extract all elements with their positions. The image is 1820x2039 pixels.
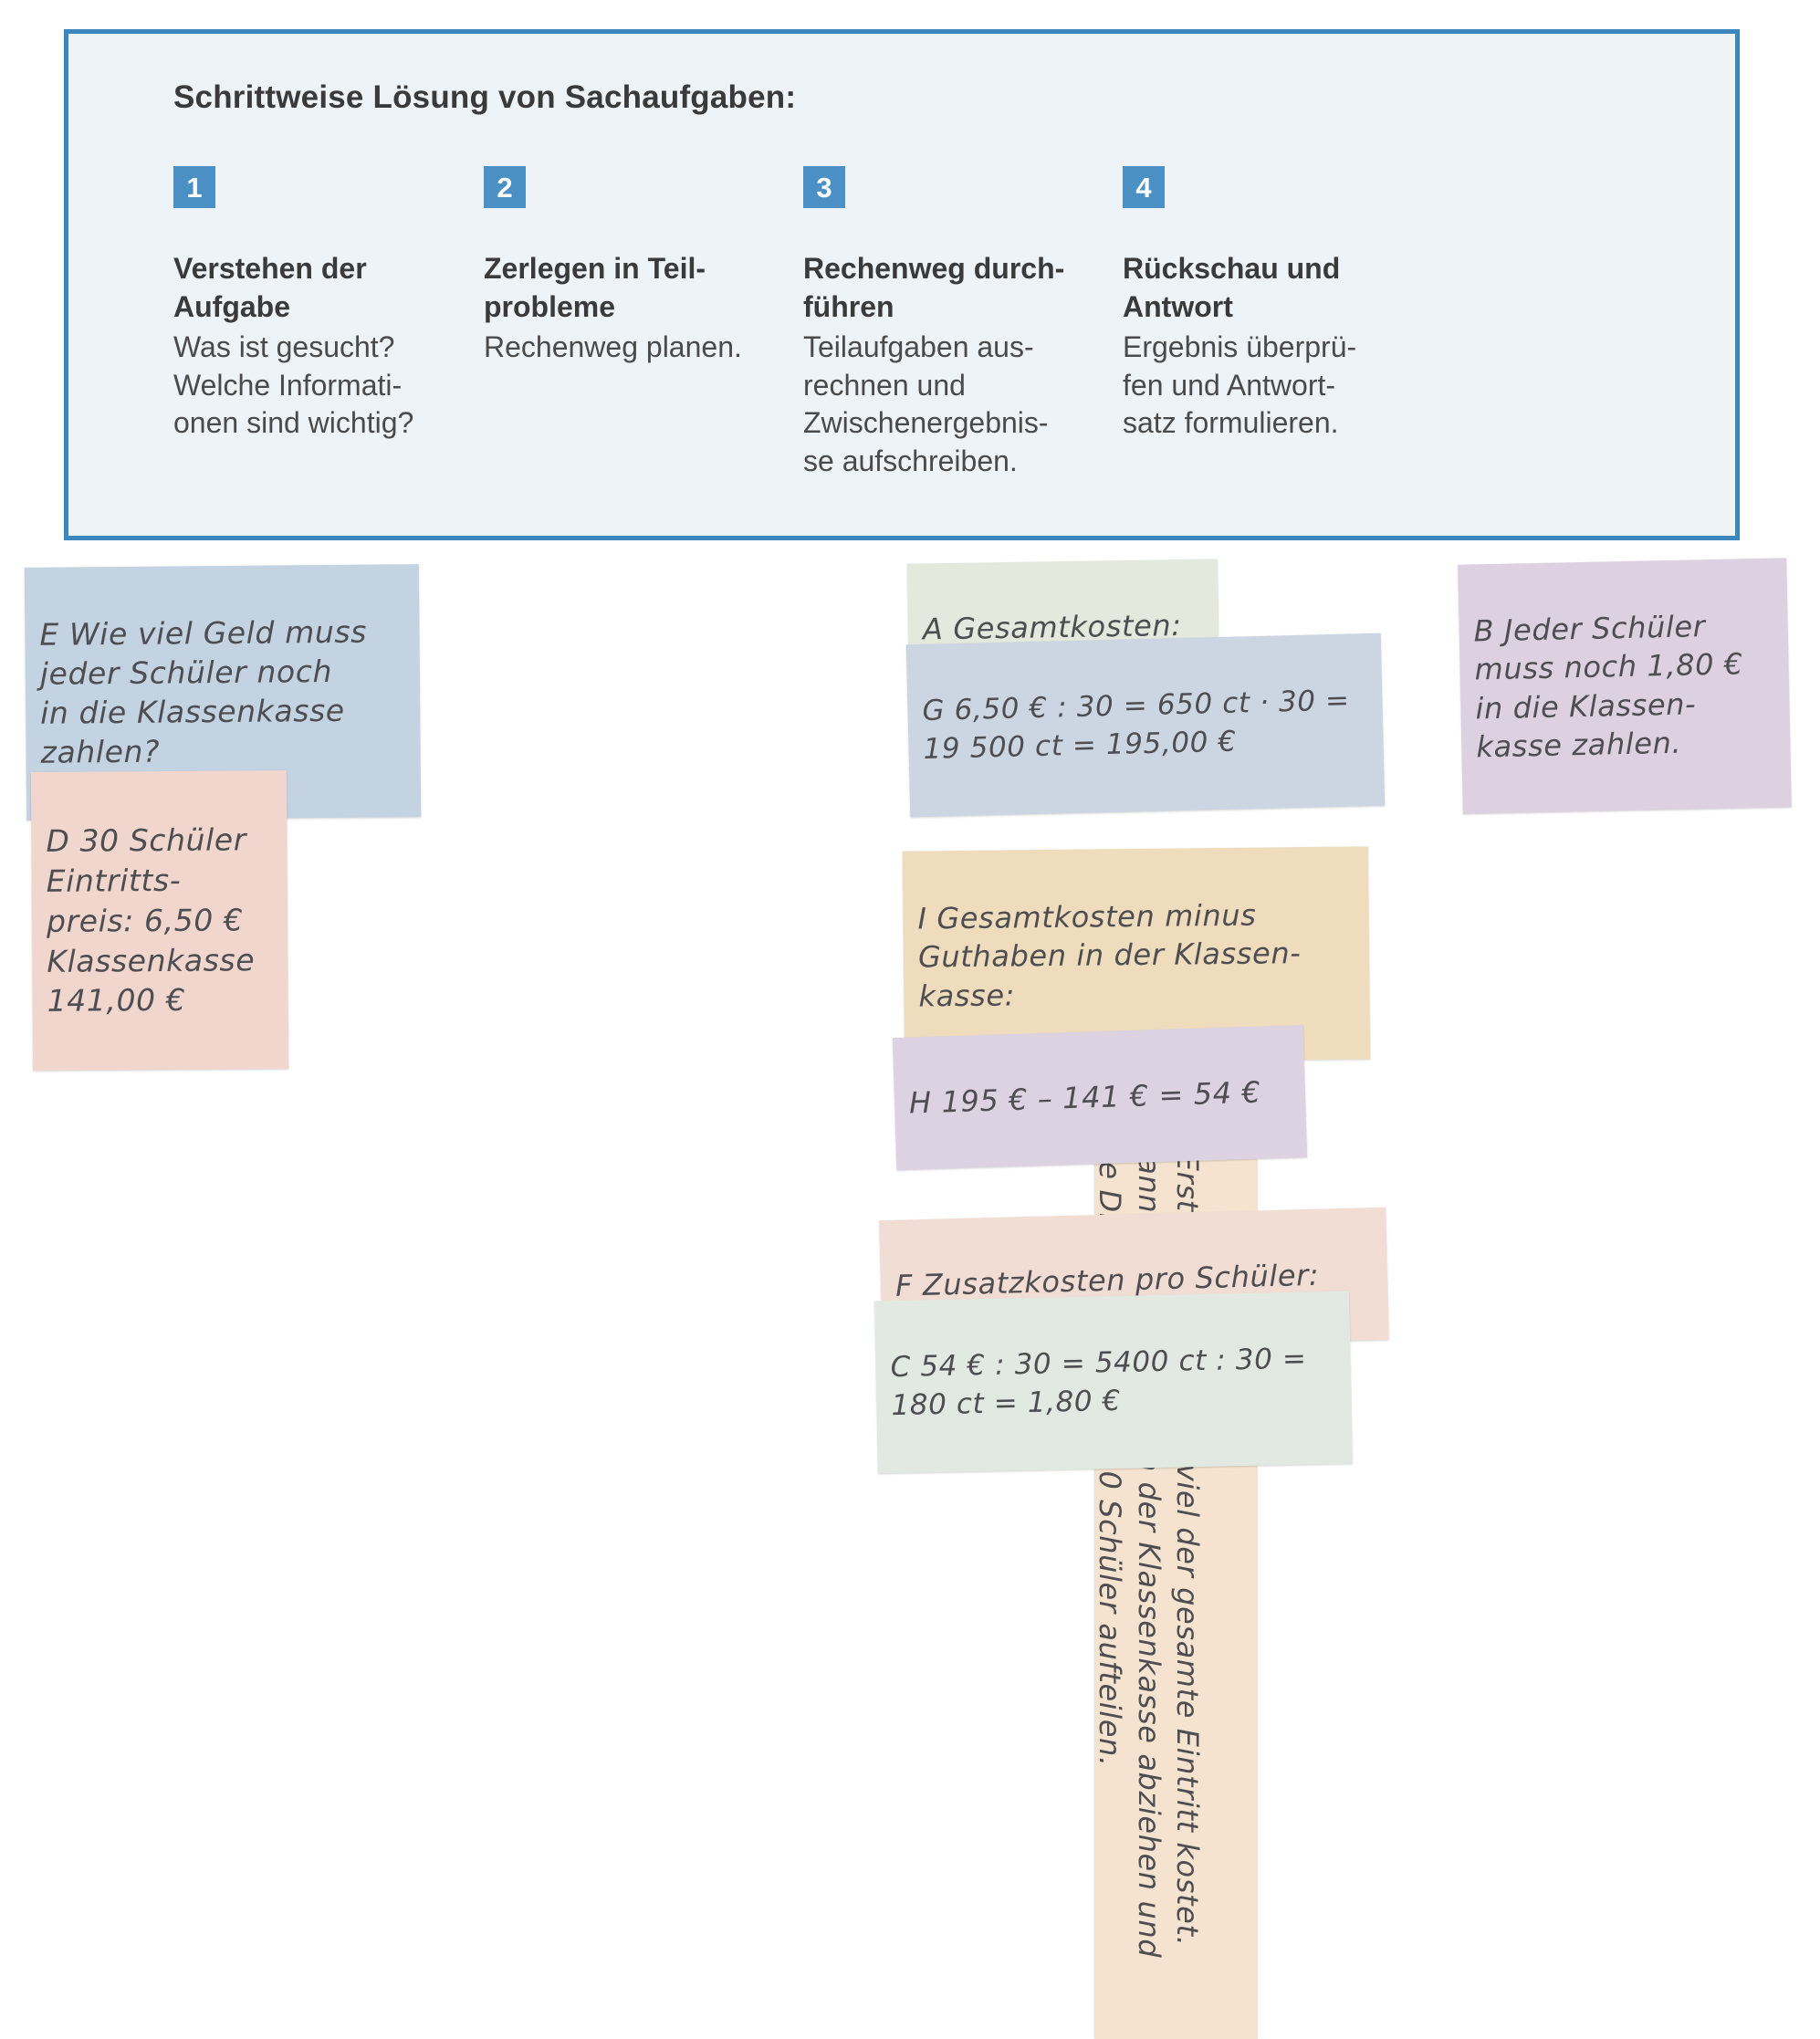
note-text-G: G 6,50 € : 30 = 650 ct · 30 = 19 500 ct … xyxy=(922,681,1369,769)
step-number-badge-3: 3 xyxy=(803,166,845,208)
solution-steps-box: Schrittweise Lösung von Sachaufgaben: 1 … xyxy=(64,29,1740,540)
page-title: Schrittweise Lösung von Sachaufgaben: xyxy=(173,79,796,116)
step-number-badge-1: 1 xyxy=(173,166,215,208)
step-body-4: Ergebnis überprü- fen und Antwort- satz … xyxy=(1123,329,1488,443)
note-card-B[interactable]: B Jeder Schüler muss noch 1,80 € in die … xyxy=(1458,558,1792,814)
note-card-C[interactable]: C 54 € : 30 = 5400 ct : 30 = 180 ct = 1,… xyxy=(874,1291,1353,1473)
step-heading-4: Rückschau und Antwort xyxy=(1123,250,1488,326)
step-column-2: 2 Zerlegen in Teil- probleme Rechenweg p… xyxy=(484,166,849,367)
step-body-2: Rechenweg planen. xyxy=(484,329,849,367)
note-card-H[interactable]: H 195 € – 141 € = 54 € xyxy=(893,1025,1307,1170)
step-body-3: Teilaufgaben aus- rechnen und Zwischener… xyxy=(803,329,1168,480)
note-text-I: I Gesamtkosten minus Guthaben in der Kla… xyxy=(917,894,1355,1016)
note-text-E: E Wie viel Geld muss jeder Schüler noch … xyxy=(39,612,405,772)
step-number-badge-2: 2 xyxy=(484,166,526,208)
step-column-3: 3 Rechenweg durch- führen Teilaufgaben a… xyxy=(803,166,1168,481)
note-text-B: B Jeder Schüler muss noch 1,80 € in die … xyxy=(1473,606,1775,767)
note-text-H: H 195 € – 141 € = 54 € xyxy=(908,1072,1291,1123)
step-heading-2: Zerlegen in Teil- probleme xyxy=(484,250,849,326)
note-text-D: D 30 Schüler Eintritts- preis: 6,50 € Kl… xyxy=(46,820,274,1021)
step-heading-3: Rechenweg durch- führen xyxy=(803,250,1168,326)
step-column-4: 4 Rückschau und Antwort Ergebnis überprü… xyxy=(1123,166,1488,443)
note-text-C: C 54 € : 30 = 5400 ct : 30 = 180 ct = 1,… xyxy=(890,1339,1337,1426)
note-card-G[interactable]: G 6,50 € : 30 = 650 ct · 30 = 19 500 ct … xyxy=(906,633,1385,817)
note-card-D[interactable]: D 30 Schüler Eintritts- preis: 6,50 € Kl… xyxy=(31,770,288,1071)
step-number-badge-4: 4 xyxy=(1123,166,1165,208)
